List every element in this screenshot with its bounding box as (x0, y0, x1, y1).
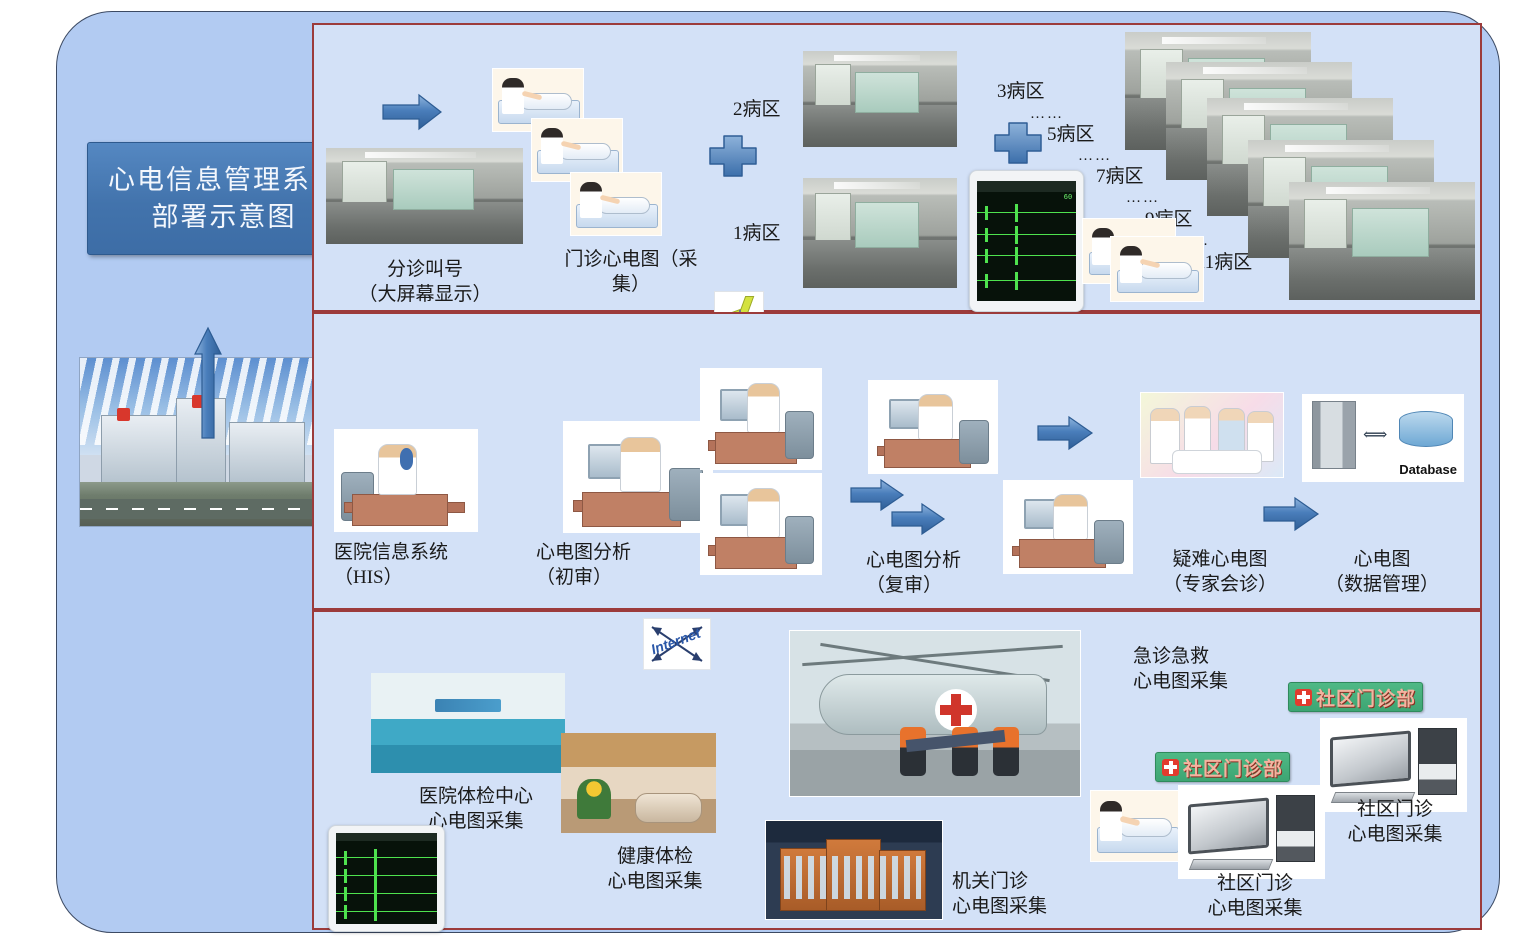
ward-photo-11 (1289, 182, 1475, 300)
expert-consultation-clipart (1140, 392, 1284, 478)
arrow-to-database (1262, 496, 1320, 532)
bidirectional-arrow-icon: ⟺ (1363, 425, 1387, 445)
ellipsis-3: …… (1126, 190, 1160, 207)
label-ward-1: 1病区 (733, 222, 781, 247)
label-ward-2: 2病区 (733, 98, 781, 123)
label-emergency: 急诊急救 心电图采集 (1133, 645, 1228, 694)
triage-display-photo (326, 148, 523, 244)
arrow-triage-to-outpatient (381, 92, 443, 132)
cross-icon-sign-1 (1162, 759, 1179, 776)
label-ward-11: 11病区 (1196, 251, 1252, 276)
review-clipart-b (700, 473, 822, 575)
label-community-clinic-1: 社区门诊 心电图采集 (1185, 872, 1325, 921)
ward-ecg-clipart-2 (1110, 236, 1204, 302)
arrow-review-2 (890, 502, 946, 536)
ellipsis-2: …… (1078, 148, 1112, 165)
arrow-to-expert (1036, 415, 1094, 451)
first-review-clipart (563, 421, 713, 533)
hospital-block-right (229, 422, 305, 491)
label-expert-consult: 疑难心电图 （专家会诊） (1150, 548, 1290, 597)
exam-center-photo (371, 673, 565, 773)
health-check-lounge-photo (561, 733, 716, 833)
ward-photo-1 (803, 178, 957, 288)
label-his: 医院信息系统 （HIS） (334, 541, 448, 590)
database-cylinder-icon (1399, 411, 1453, 447)
red-cross-sign-1 (117, 408, 130, 421)
cross-icon-sign-2 (1295, 689, 1312, 706)
road (80, 499, 346, 519)
ecg-tablet-device: 60 (969, 170, 1084, 312)
red-cross-emblem (935, 689, 977, 731)
ecg-tablet-device-2 (328, 825, 445, 932)
ellipsis-1: …… (1030, 106, 1064, 123)
his-system-clipart (334, 429, 478, 532)
label-ward-3: 3病区 (997, 80, 1045, 105)
label-community-clinic-2: 社区门诊 心电图采集 (1325, 798, 1465, 847)
label-outpatient-ecg: 门诊心电图（采 集） (555, 248, 707, 297)
ecg-collection-clipart-3 (570, 172, 662, 236)
label-data-management: 心电图 （数据管理） (1312, 548, 1452, 597)
community-clinic-sign-1[interactable]: 社区门诊部 (1155, 752, 1290, 782)
label-health-check: 健康体检 心电图采集 (585, 845, 725, 894)
label-ward-7: 7病区 (1096, 165, 1144, 190)
label-second-review: 心电图分析 （复审） (866, 549, 961, 598)
label-first-review: 心电图分析 （初审） (536, 541, 631, 590)
cross-icon-right (992, 120, 1044, 171)
internet-icon: Internet (643, 618, 711, 670)
government-clinic-photo (765, 820, 943, 920)
label-gov-clinic: 机关门诊 心电图采集 (952, 870, 1047, 919)
emergency-helicopter-photo (789, 630, 1081, 797)
server-icon (1312, 401, 1356, 469)
community-clinic-sign-2[interactable]: 社区门诊部 (1288, 682, 1423, 712)
label-triage: 分诊叫号 （大屏幕显示） (330, 258, 520, 307)
page-title-line2: 部署示意图 (108, 199, 340, 235)
community-pc-1 (1178, 785, 1325, 879)
health-center-logo (435, 699, 501, 712)
cross-icon-left (707, 133, 759, 184)
review-clipart-c (1003, 480, 1133, 574)
ward-photo-2 (803, 51, 957, 147)
community-clinic-sign-2-label: 社区门诊部 (1316, 684, 1416, 711)
page-title-line1: 心电信息管理系统 (108, 162, 340, 198)
database-caption: Database (1399, 462, 1457, 477)
label-ward-5: 5病区 (1047, 123, 1095, 148)
community-clinic-sign-1-label: 社区门诊部 (1183, 754, 1283, 781)
second-review-clipart (868, 380, 998, 474)
database-server-icon: ⟺ Database (1302, 394, 1464, 482)
community-ecg-clipart (1090, 790, 1184, 862)
review-clipart-a (700, 368, 822, 470)
arrow-vertical-uplink (193, 322, 223, 440)
